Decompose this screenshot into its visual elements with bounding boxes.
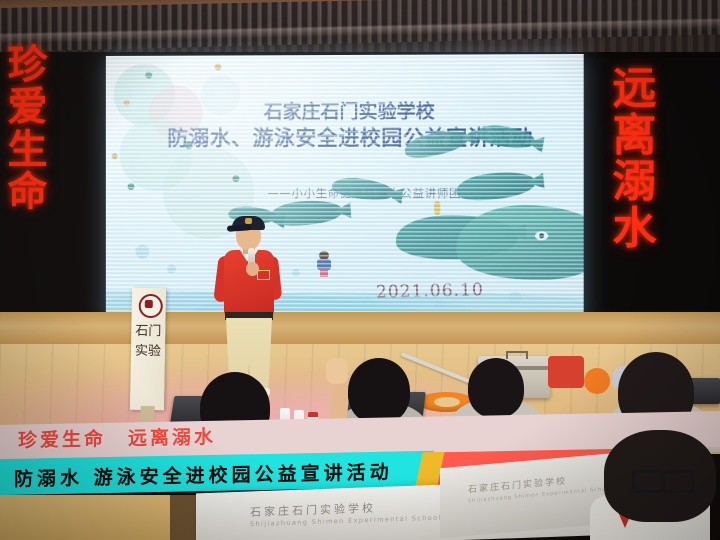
speaker-hand: [246, 262, 259, 276]
orange-float: [584, 368, 610, 394]
wall-wood-band: [0, 312, 720, 348]
raised-hand-icon: [326, 358, 348, 384]
school-seal-icon: [139, 294, 163, 318]
glasses-icon: [632, 470, 694, 488]
glasses-lens: [662, 470, 694, 493]
screen-glare: [106, 54, 584, 324]
red-bag: [548, 356, 584, 388]
projection-screen: 石家庄石门实验学校 防溺水、游泳安全进校园公益宣讲活动 ——小小生命健康防溺水公…: [106, 54, 584, 324]
glasses-bridge: [658, 476, 664, 479]
glasses-lens: [632, 470, 664, 493]
cap-logo-icon: [245, 218, 252, 224]
lower-third-line1: 珍爱生命 远离溺水: [18, 422, 216, 453]
audience-head: [468, 358, 524, 418]
flag-badge-icon: [257, 270, 270, 280]
speaker-cap: [232, 216, 265, 230]
podium-sign: 石门实验: [130, 288, 166, 411]
video-frame: 珍爱生命 远离溺水 石家庄石门实验学校 防溺水、游泳安全进校园公益宣讲活动 ——…: [0, 0, 720, 540]
banner-left-vertical: 珍爱生命: [2, 44, 54, 214]
audience-head: [348, 358, 410, 424]
podium-sign-text: 石门实验: [131, 322, 166, 362]
banner-right-vertical: 远离溺水: [605, 66, 665, 253]
case-handle: [506, 351, 528, 359]
life-buoy-inner: [434, 397, 460, 407]
